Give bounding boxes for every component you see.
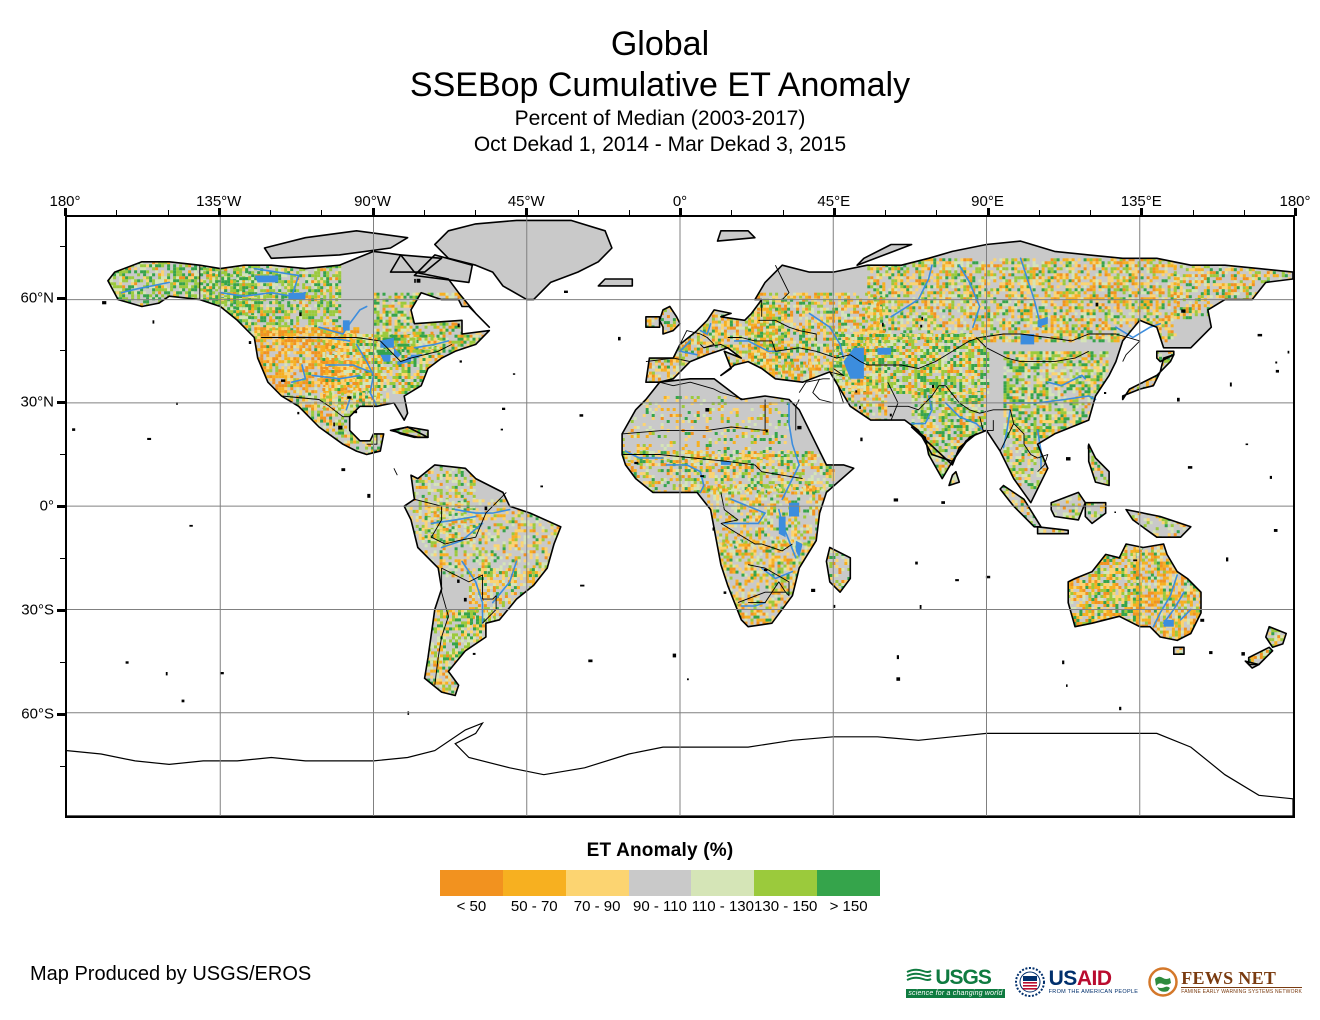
lat-label-4: 60°S <box>0 706 54 723</box>
island-speck <box>1275 362 1277 364</box>
lake-11 <box>779 517 786 538</box>
island-speck <box>1088 445 1090 449</box>
legend-label-4: 110 - 130 <box>692 898 754 915</box>
page-subtitle-1: Percent of Median (2003-2017) <box>0 106 1320 132</box>
island-speck <box>341 468 345 471</box>
usaid-seal-icon <box>1015 967 1045 997</box>
island-speck <box>333 423 335 427</box>
island-speck <box>618 337 621 341</box>
island-speck <box>126 661 129 663</box>
island-speck <box>1258 334 1263 337</box>
island-speck <box>915 562 918 565</box>
island-speck <box>1209 651 1212 654</box>
island-speck <box>189 525 192 527</box>
island-speck <box>299 312 301 316</box>
island-speck <box>1188 466 1192 469</box>
island-speck <box>513 373 515 375</box>
island-speck <box>932 385 934 388</box>
island-speck <box>700 475 704 477</box>
page-title-line2: SSEBop Cumulative ET Anomaly <box>0 64 1320 106</box>
island-speck <box>1230 383 1232 387</box>
island-speck <box>1114 512 1116 514</box>
island-speck <box>1119 707 1121 710</box>
island-speck <box>1270 476 1272 479</box>
anomaly-raster-region-22 <box>1021 258 1177 342</box>
agency-logos: USGS science for a changing world USAID … <box>906 958 1302 1006</box>
island-speck <box>896 677 900 681</box>
landmass-greenland <box>435 220 612 299</box>
lake-9 <box>878 348 892 355</box>
legend-title: ET Anomaly (%) <box>0 840 1320 862</box>
usgs-tagline: science for a changing world <box>906 989 1004 998</box>
legend-swatch-1[interactable] <box>503 870 566 896</box>
island-speck <box>281 379 285 382</box>
island-speck <box>897 655 899 659</box>
island-speck <box>894 498 898 501</box>
legend-label-1: 50 - 70 <box>511 898 558 915</box>
island-speck <box>1062 661 1064 665</box>
lake-10 <box>789 503 799 517</box>
island-speck <box>1181 309 1185 312</box>
legend-color-bar <box>440 870 880 896</box>
island-speck <box>182 700 185 703</box>
country-border-7 <box>394 468 397 475</box>
island-speck <box>580 585 584 587</box>
island-speck <box>347 396 351 399</box>
island-speck <box>473 653 476 655</box>
island-speck <box>414 279 416 283</box>
lat-tick-major-2 <box>57 505 65 508</box>
island-speck <box>705 408 709 412</box>
island-speck <box>417 279 421 283</box>
island-speck <box>921 317 923 320</box>
coastline-novaya <box>857 245 912 266</box>
lat-tick-major-0 <box>57 297 65 300</box>
island-speck <box>485 507 488 511</box>
island-speck <box>764 569 767 571</box>
lat-label-0: 60°N <box>0 290 54 307</box>
lat-tick-major-4 <box>57 713 65 716</box>
page-subtitle-2: Oct Dekad 1, 2014 - Mar Dekad 3, 2015 <box>0 132 1320 158</box>
island-speck <box>766 430 768 433</box>
usaid-wordmark-us: US <box>1049 967 1077 990</box>
island-speck <box>1177 398 1180 402</box>
island-speck <box>460 360 462 362</box>
island-speck <box>540 486 543 488</box>
fews-net-tagline: FAMINE EARLY WARNING SYSTEMS NETWORK <box>1181 987 1302 996</box>
fews-globe-icon <box>1148 967 1178 997</box>
island-speck <box>153 320 155 323</box>
usgs-wordmark: USGS <box>935 967 991 988</box>
fews-net-wordmark: FEWS NET <box>1181 969 1302 987</box>
lake-16 <box>1164 620 1174 627</box>
fews-net-logo[interactable]: FEWS NET FAMINE EARLY WARNING SYSTEMS NE… <box>1148 967 1302 997</box>
island-speck <box>1066 457 1071 460</box>
island-speck <box>464 598 467 602</box>
legend-label-5: 130 - 150 <box>754 898 817 915</box>
island-speck <box>1066 684 1068 687</box>
legend-label-3: 90 - 110 <box>633 898 687 915</box>
legend-swatch-3[interactable] <box>629 870 692 896</box>
island-speck <box>72 428 75 431</box>
island-speck <box>147 438 151 440</box>
legend-label-0: < 50 <box>457 898 487 915</box>
island-speck <box>338 426 342 430</box>
island-speck <box>502 408 505 410</box>
island-speck <box>920 325 922 328</box>
lat-label-2: 0° <box>0 498 54 515</box>
legend-swatch-2[interactable] <box>566 870 629 896</box>
map-credit: Map Produced by USGS/EROS <box>30 963 311 986</box>
legend-labels: < 5050 - 7070 - 9090 - 110110 - 130130 -… <box>425 898 895 920</box>
island-speck <box>855 390 857 392</box>
lake-7 <box>343 320 350 330</box>
island-speck <box>673 654 676 658</box>
lake-6 <box>254 276 278 283</box>
island-speck <box>1288 351 1290 354</box>
lat-tick-major-1 <box>57 401 65 404</box>
island-speck <box>1096 303 1099 307</box>
map-plot-area[interactable] <box>65 215 1295 818</box>
lat-label-3: 30°S <box>0 602 54 619</box>
island-speck <box>1104 392 1106 394</box>
island-speck <box>882 323 884 327</box>
island-speck <box>457 580 460 583</box>
legend-label-2: 70 - 90 <box>574 898 621 915</box>
lake-5 <box>288 293 305 300</box>
island-speck <box>724 591 727 594</box>
island-speck <box>580 414 584 417</box>
legend-swatch-0[interactable] <box>440 870 503 896</box>
island-speck <box>955 579 959 581</box>
legend-label-6: > 150 <box>830 898 868 915</box>
island-speck <box>588 660 592 663</box>
title-block: Global SSEBop Cumulative ET Anomaly Perc… <box>0 24 1320 158</box>
island-speck <box>1246 444 1249 446</box>
island-speck <box>249 341 251 344</box>
island-speck <box>920 605 922 609</box>
island-speck <box>890 414 892 417</box>
island-speck <box>1241 652 1245 656</box>
lat-tick-major-3 <box>57 609 65 612</box>
island-speck <box>1226 557 1228 561</box>
island-speck <box>860 438 862 442</box>
island-speck <box>687 678 689 680</box>
island-speck <box>634 462 638 464</box>
island-speck <box>713 528 716 531</box>
island-speck <box>297 412 299 414</box>
legend-swatch-4[interactable] <box>691 870 754 896</box>
usaid-wordmark-aid: AID <box>1077 967 1112 990</box>
usaid-logo[interactable]: USAID FROM THE AMERICAN PEOPLE <box>1015 967 1139 997</box>
island-speck <box>564 291 568 293</box>
legend: ET Anomaly (%) < 5050 - 7070 - 9090 - 11… <box>0 840 1320 920</box>
legend-swatch-6[interactable] <box>817 870 880 896</box>
island-speck <box>797 426 801 429</box>
page-title-line1: Global <box>0 24 1320 64</box>
legend-swatch-5[interactable] <box>754 870 817 896</box>
island-speck <box>941 501 945 504</box>
lat-label-1: 30°N <box>0 394 54 411</box>
island-speck <box>166 672 168 675</box>
island-speck <box>102 301 106 304</box>
island-speck <box>1274 529 1278 532</box>
island-speck <box>1133 559 1137 561</box>
island-speck <box>1200 619 1204 622</box>
island-speck <box>353 411 357 413</box>
island-speck <box>1276 370 1279 373</box>
world-map[interactable] <box>67 217 1293 816</box>
island-speck <box>367 494 370 498</box>
usaid-tagline: FROM THE AMERICAN PEOPLE <box>1049 989 1139 996</box>
usgs-wave-icon <box>906 967 932 987</box>
island-speck <box>501 429 503 431</box>
usgs-logo[interactable]: USGS science for a changing world <box>906 967 1004 998</box>
island-speck <box>811 589 815 592</box>
anomaly-raster-region-45 <box>946 468 964 489</box>
island-speck <box>458 324 460 328</box>
island-speck <box>859 406 861 409</box>
